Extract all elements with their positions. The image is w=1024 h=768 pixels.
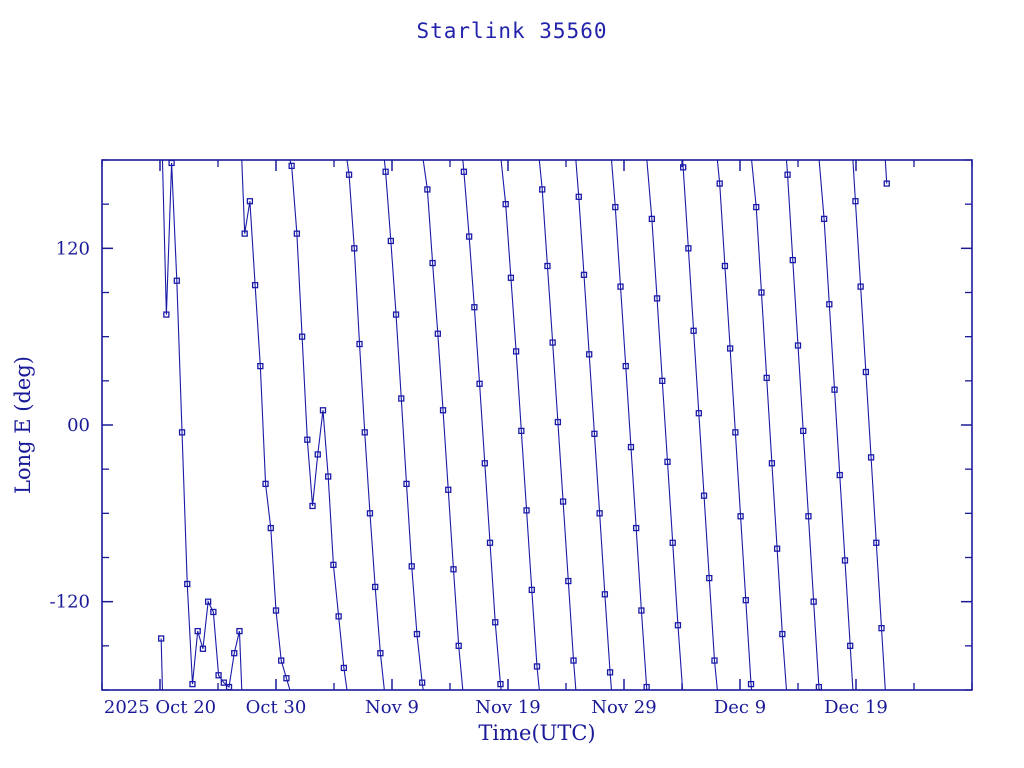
x-tick-label: Nov 9 — [365, 697, 419, 718]
data-polyline — [683, 160, 718, 690]
x-tick-label: 2025 Oct 20 — [104, 697, 216, 718]
data-polyline — [853, 160, 885, 690]
y-tick-label: -120 — [50, 592, 90, 613]
data-polyline — [787, 160, 820, 690]
y-tick-label: 00 — [67, 415, 90, 436]
data-polyline — [242, 160, 290, 690]
data-polyline — [717, 160, 751, 690]
y-tick-label: 120 — [56, 238, 90, 259]
data-polyline — [161, 638, 162, 690]
data-polyline — [885, 160, 886, 184]
data-polyline — [576, 160, 612, 690]
x-tick-label: Dec 19 — [824, 697, 888, 718]
data-polyline — [612, 160, 647, 690]
data-series-long-e — [159, 160, 890, 690]
x-axis-label: Time(UTC) — [478, 721, 595, 745]
plot-figure: Starlink 35560 Long E (deg) Time(UTC) 20… — [0, 0, 1024, 768]
data-polyline — [819, 160, 853, 690]
x-tick-label: Nov 29 — [591, 697, 656, 718]
data-polyline — [347, 160, 384, 690]
x-tick-label: Nov 19 — [475, 697, 540, 718]
x-tick-label: Dec 9 — [714, 697, 766, 718]
page-title: Starlink 35560 — [416, 19, 607, 43]
data-polyline — [501, 160, 539, 690]
axis-ticks — [102, 160, 972, 690]
data-polyline — [647, 160, 683, 690]
data-polyline — [423, 160, 463, 690]
data-polyline — [163, 160, 242, 690]
figure-canvas: Starlink 35560 Long E (deg) Time(UTC) 20… — [0, 0, 1024, 768]
data-polyline — [290, 160, 347, 690]
data-polyline — [384, 160, 423, 690]
x-tick-label: Oct 30 — [246, 697, 307, 718]
plot-frame — [102, 160, 972, 690]
data-polyline — [752, 160, 787, 690]
y-axis-label: Long E (deg) — [11, 356, 35, 494]
